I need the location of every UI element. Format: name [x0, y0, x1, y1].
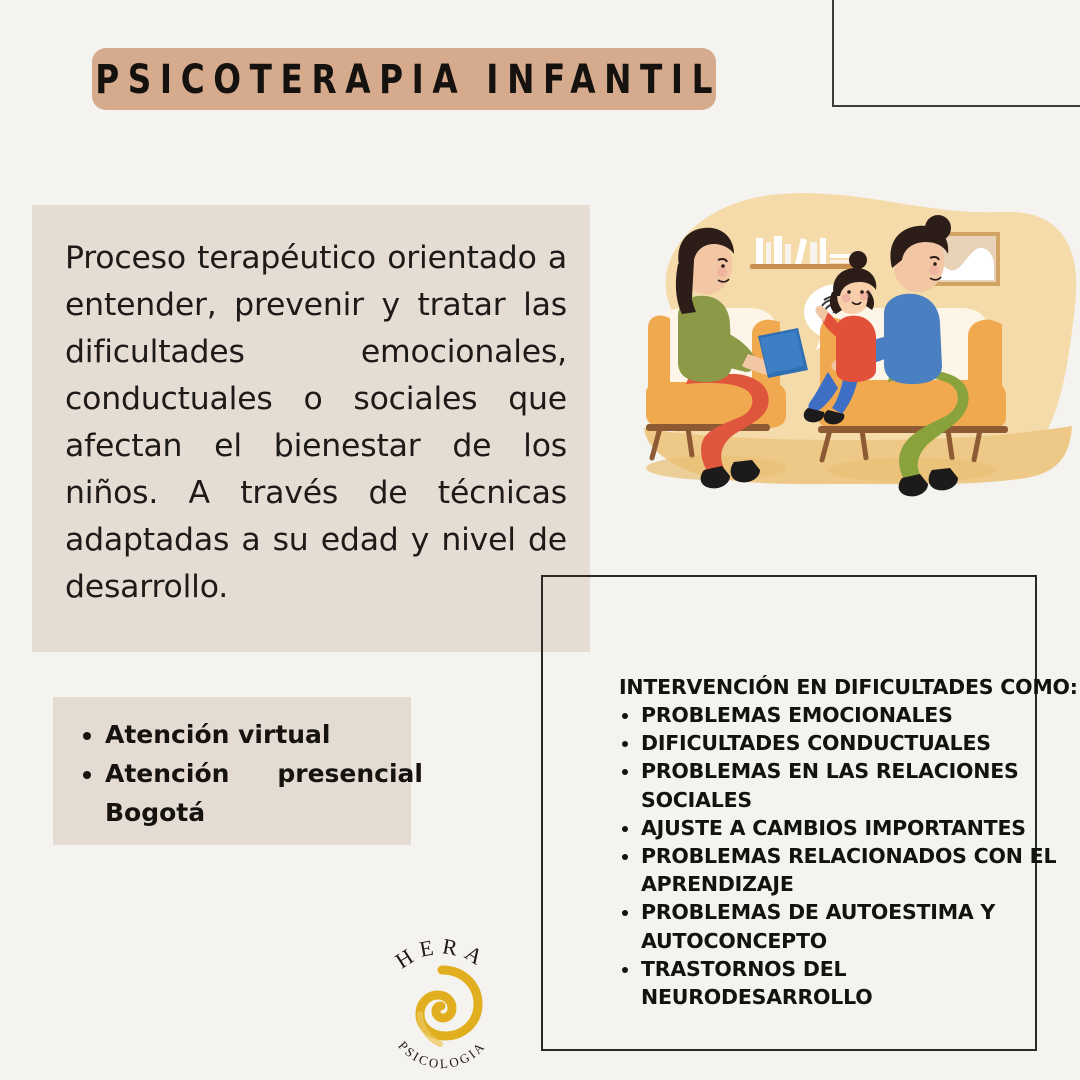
intervention-content: INTERVENCIÓN EN DIFICULTADES COMO: PROBL… — [581, 673, 1059, 1011]
modality-card: Atención virtual Atención presencial Bog… — [53, 697, 411, 845]
page-title: PSICOTERAPIA INFANTIL — [87, 56, 721, 103]
list-item: PROBLEMAS EN LAS RELACIONES SOCIALES — [641, 757, 1059, 813]
description-card: Proceso terapéutico orientado a entender… — [32, 205, 590, 652]
intervention-list: PROBLEMAS EMOCIONALES DIFICULTADES CONDU… — [581, 701, 1059, 1011]
list-item: Atención presencial Bogotá — [105, 754, 423, 832]
list-item: AJUSTE A CAMBIOS IMPORTANTES — [641, 814, 1059, 842]
intervention-heading: INTERVENCIÓN EN DIFICULTADES COMO: — [619, 673, 1059, 701]
list-item: Atención virtual — [105, 715, 423, 754]
list-item: PROBLEMAS EMOCIONALES — [641, 701, 1059, 729]
list-item: PROBLEMAS RELACIONADOS CON EL APRENDIZAJ… — [641, 842, 1059, 898]
modality-list: Atención virtual Atención presencial Bog… — [75, 715, 423, 832]
spiral-icon — [420, 970, 478, 1044]
list-item: PROBLEMAS DE AUTOESTIMA Y AUTOCONCEPTO — [641, 898, 1059, 954]
description-text: Proceso terapéutico orientado a entender… — [65, 235, 567, 611]
poster-canvas: PSICOTERAPIA INFANTIL Proceso terapéutic… — [0, 0, 1080, 1080]
therapy-session-illustration — [630, 186, 1080, 506]
brand-logo: HERA PSICOLOGIA — [368, 930, 516, 1080]
list-item: DIFICULTADES CONDUCTUALES — [641, 729, 1059, 757]
corner-frame-decoration — [832, 0, 1080, 107]
intervention-box: INTERVENCIÓN EN DIFICULTADES COMO: PROBL… — [541, 575, 1037, 1051]
list-item: TRASTORNOS DEL NEURODESARROLLO — [641, 955, 1059, 1011]
title-banner: PSICOTERAPIA INFANTIL — [92, 48, 716, 110]
